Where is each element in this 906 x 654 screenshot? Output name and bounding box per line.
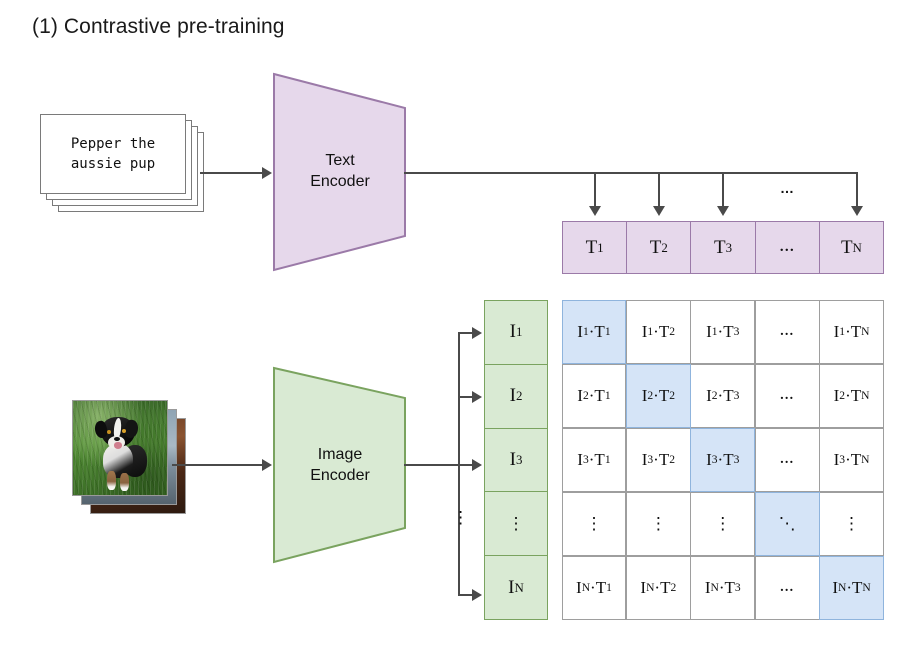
wire-text-to-encoder	[200, 172, 262, 174]
matrix-cell-r2-c5: I2·TN	[819, 364, 884, 429]
text-embedding-t3: T3	[691, 221, 755, 274]
t1-label: T	[586, 237, 598, 259]
text-card-line-1: Pepper the	[71, 134, 155, 154]
image-embedding-in: IN	[484, 556, 548, 620]
image-encoder-label-line-2: Encoder	[272, 465, 408, 486]
arrowhead-tn	[851, 206, 863, 216]
text-encoder-label: Text Encoder	[272, 150, 408, 192]
matrix-cell-r3-c2: I3·T2	[626, 428, 691, 493]
matrix-cell-r2-c2: I2·T2	[626, 364, 691, 429]
t3-sub: 3	[726, 240, 732, 256]
tn-label: T	[841, 237, 853, 259]
matrix-cell-r3-c3: I3·T3	[690, 428, 755, 493]
text-embedding-t1: T1	[562, 221, 627, 274]
matrix-cell-r2-c1: I2·T1	[562, 364, 627, 429]
tn-sub: N	[853, 240, 862, 256]
matrix-cell-r5-c4: …	[755, 556, 820, 621]
image-embedding-i2: I2	[484, 365, 548, 429]
arrowhead-t3	[717, 206, 729, 216]
matrix-cell-r3-c4: …	[755, 428, 820, 493]
i2-sub: 2	[516, 388, 522, 404]
in-sub: N	[515, 580, 524, 596]
image-embedding-i1: I1	[484, 300, 548, 365]
text-embedding-t2: T2	[627, 221, 691, 274]
matrix-cell-r2-c3: I2·T3	[690, 364, 755, 429]
arrowhead-i2	[472, 391, 482, 403]
page-title: (1) Contrastive pre-training	[32, 14, 285, 40]
matrix-cell-r1-c1: I1·T1	[562, 300, 627, 365]
t1-sub: 1	[597, 240, 603, 256]
matrix-cell-r1-c4: …	[755, 300, 820, 365]
t2-sub: 2	[661, 240, 667, 256]
wire-text-bus	[404, 172, 858, 174]
text-encoder: Text Encoder	[272, 72, 408, 272]
puppy-illustration	[93, 417, 149, 491]
text-card-line-2: aussie pup	[71, 154, 155, 174]
arrowhead-in	[472, 589, 482, 601]
image-encoder: Image Encoder	[272, 366, 408, 564]
matrix-cell-r5-c5: IN·TN	[819, 556, 884, 621]
matrix-cell-r5-c1: IN·T1	[562, 556, 627, 621]
arrowhead-text-to-encoder	[262, 167, 272, 179]
matrix-cell-r4-c3: ⋮	[690, 492, 755, 557]
t2-label: T	[650, 237, 662, 259]
image-encoder-label-line-1: Image	[272, 444, 408, 465]
arrowhead-i3	[472, 459, 482, 471]
text-encoder-label-line-2: Encoder	[272, 171, 408, 192]
matrix-cell-r1-c3: I1·T3	[690, 300, 755, 365]
similarity-matrix: I1·T1I1·T2I1·T3…I1·TNI2·T1I2·T2I2·T3…I2·…	[562, 300, 884, 620]
matrix-cell-r4-c1: ⋮	[562, 492, 627, 557]
matrix-cell-r4-c2: ⋮	[626, 492, 691, 557]
matrix-cell-r3-c1: I3·T1	[562, 428, 627, 493]
t3-label: T	[714, 237, 726, 259]
wire-image-to-encoder	[172, 464, 262, 466]
arrowhead-image-to-encoder	[262, 459, 272, 471]
matrix-cell-r3-c5: I3·TN	[819, 428, 884, 493]
image-embedding-column: I1 I2 I3 ⋮ IN	[484, 300, 548, 620]
wire-t3-drop	[722, 172, 724, 208]
image-encoder-label: Image Encoder	[272, 444, 408, 486]
arrowhead-t2	[653, 206, 665, 216]
text-embedding-row: T1 T2 T3 … TN	[562, 221, 884, 274]
text-card-caption: Pepper the aussie pup	[40, 114, 186, 194]
text-embedding-tn: TN	[820, 221, 884, 274]
matrix-cell-r5-c2: IN·T2	[626, 556, 691, 621]
arrowhead-t1	[589, 206, 601, 216]
text-encoder-label-line-1: Text	[272, 150, 408, 171]
image-embedding-ellipsis: ⋮	[484, 492, 548, 556]
wire-t2-drop	[658, 172, 660, 208]
photo-front	[72, 400, 168, 496]
i3-sub: 3	[516, 452, 522, 468]
text-embedding-ellipsis: …	[756, 221, 820, 274]
wire-t1-drop	[594, 172, 596, 208]
row-ellipsis-left: ⋮	[452, 508, 469, 528]
diagram-canvas: (1) Contrastive pre-training Pepper the …	[0, 0, 906, 654]
text-bus-ellipsis: …	[780, 180, 795, 196]
arrowhead-i1	[472, 327, 482, 339]
matrix-cell-r1-c5: I1·TN	[819, 300, 884, 365]
wire-tn-drop	[856, 172, 858, 208]
image-embedding-i3: I3	[484, 429, 548, 493]
matrix-cell-r5-c3: IN·T3	[690, 556, 755, 621]
matrix-cell-r2-c4: …	[755, 364, 820, 429]
matrix-cell-r4-c4: ⋱	[755, 492, 820, 557]
matrix-cell-r1-c2: I1·T2	[626, 300, 691, 365]
matrix-cell-r4-c5: ⋮	[819, 492, 884, 557]
wire-image-bus	[404, 464, 460, 466]
i1-sub: 1	[516, 324, 522, 340]
